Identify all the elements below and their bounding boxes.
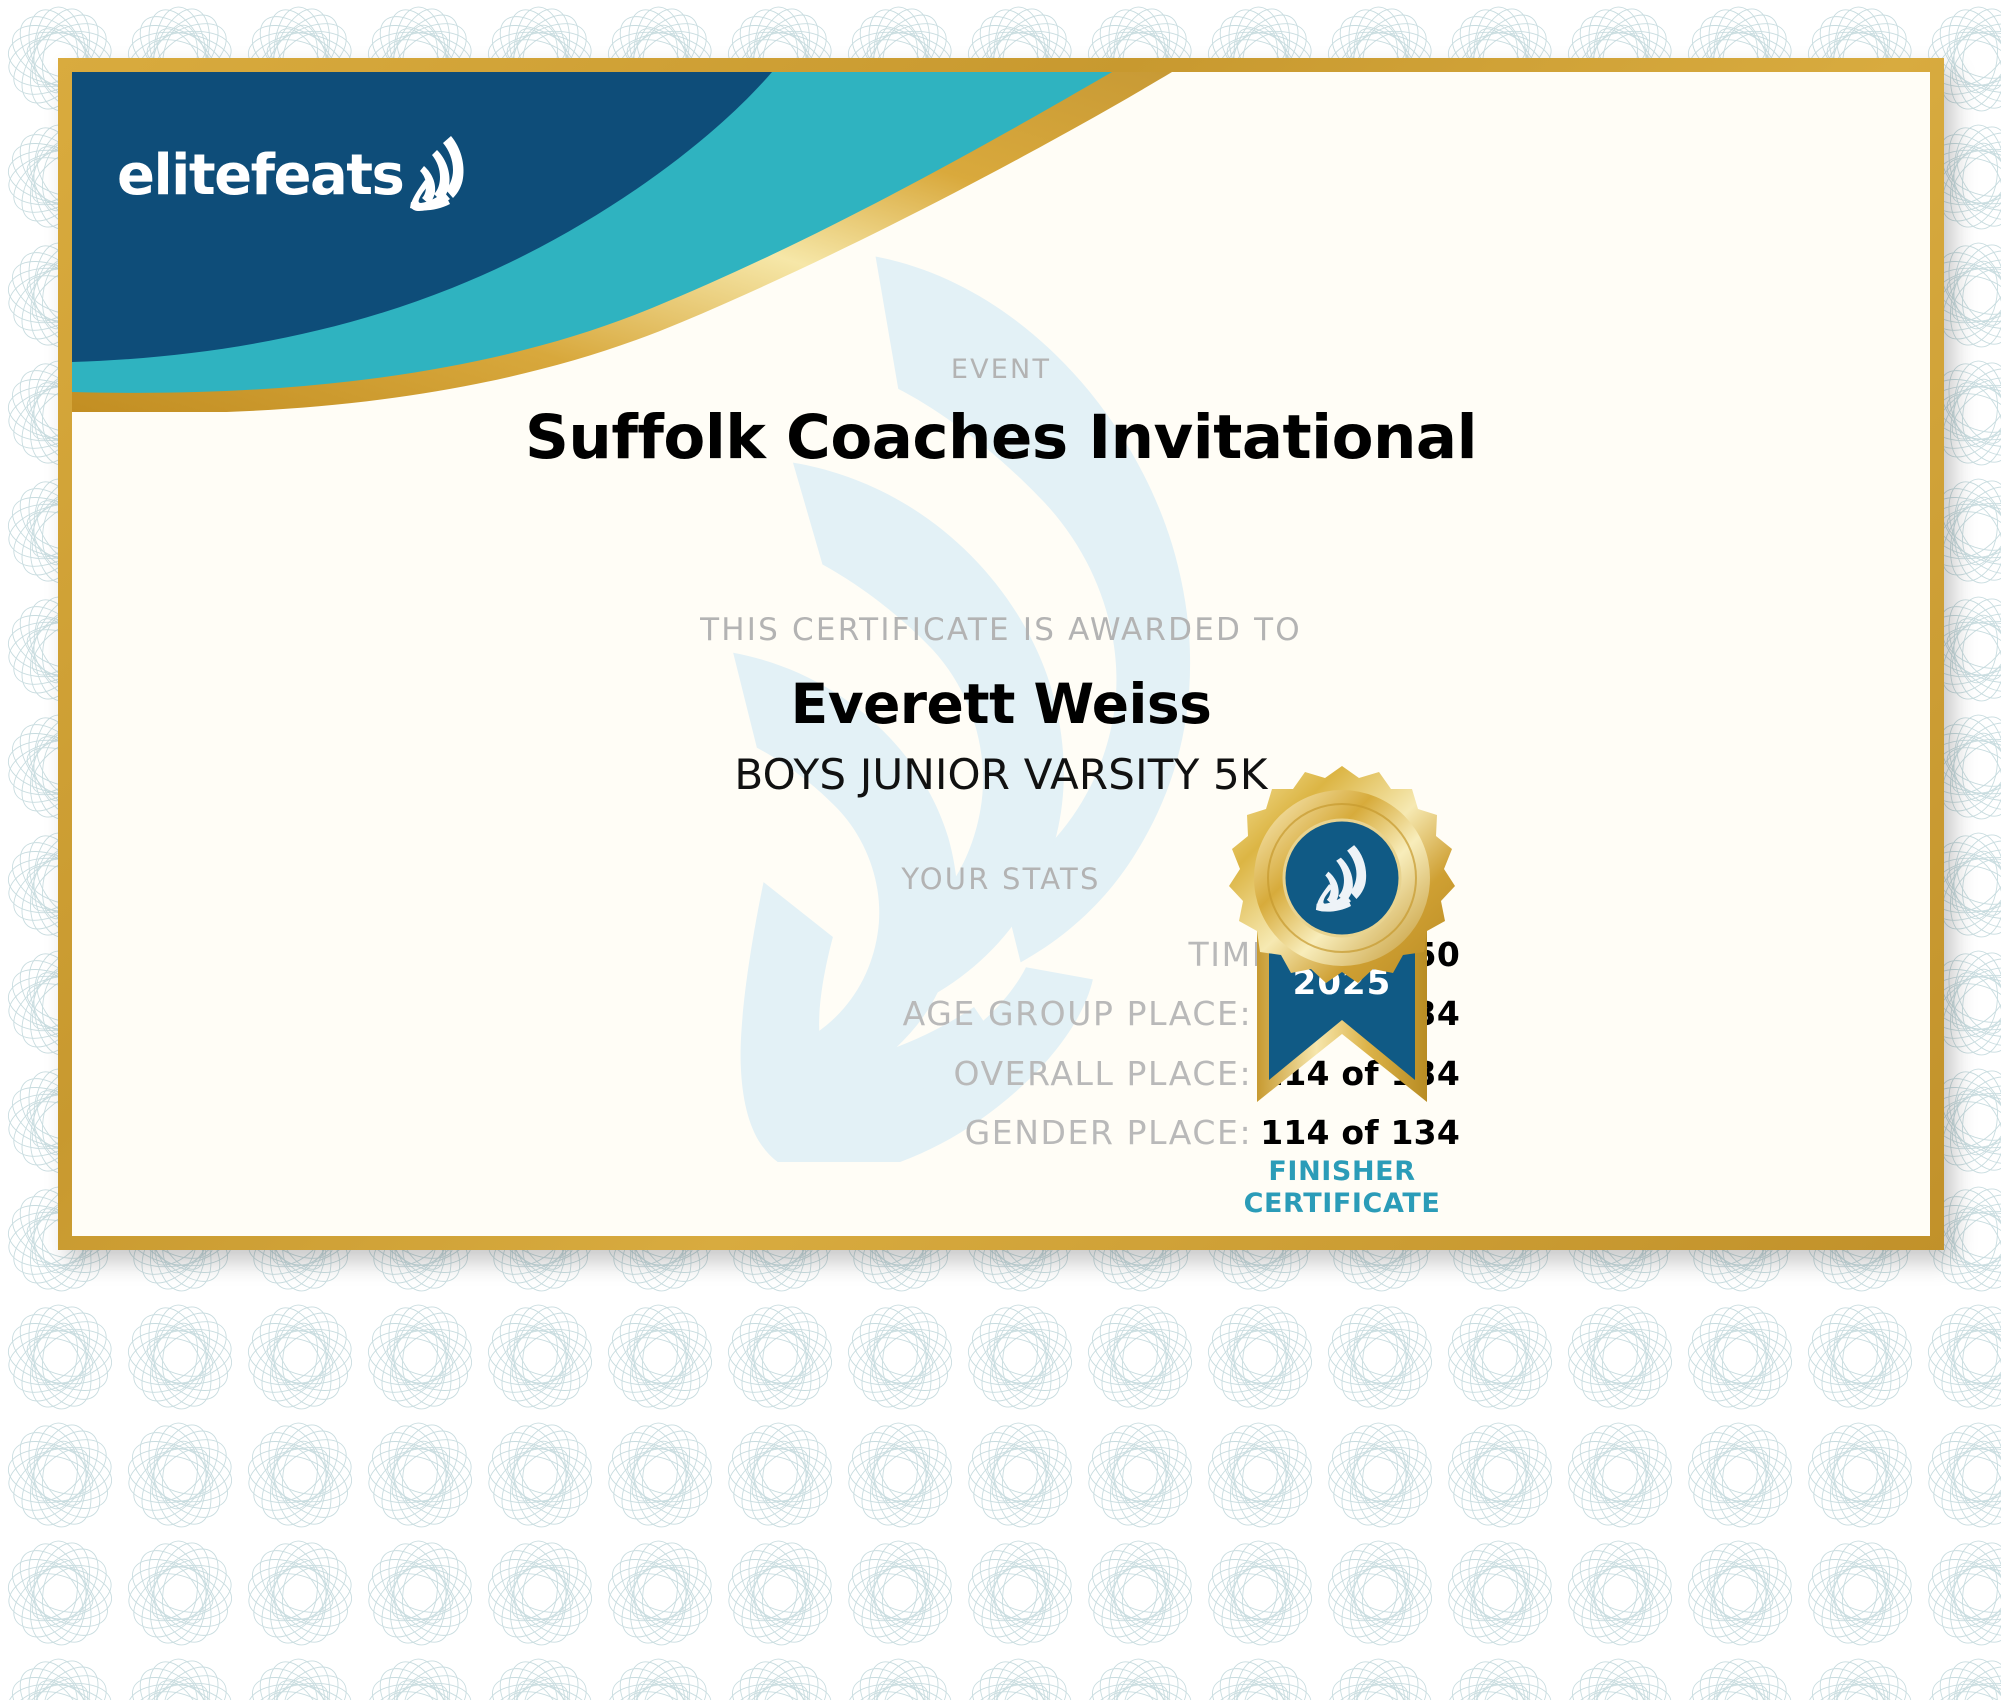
badge-caption-line-1: FINISHER bbox=[1192, 1156, 1492, 1188]
certificate-page: elitefeats EVENT Suffolk Coaches Invitat… bbox=[0, 0, 2001, 1700]
elitefeats-logo: elitefeats bbox=[117, 134, 473, 218]
logo-wordmark: elitefeats bbox=[117, 148, 403, 204]
certificate-card: elitefeats EVENT Suffolk Coaches Invitat… bbox=[72, 72, 1930, 1236]
division-name: BOYS JUNIOR VARSITY 5K bbox=[72, 750, 1930, 799]
gold-medal-rosette-icon: 2025 bbox=[1197, 762, 1487, 1152]
your-stats-label: YOUR STATS bbox=[72, 862, 1930, 896]
winged-foot-icon bbox=[407, 134, 473, 212]
certificate-gold-frame: elitefeats EVENT Suffolk Coaches Invitat… bbox=[58, 58, 1944, 1250]
recipient-name: Everett Weiss bbox=[72, 672, 1930, 736]
event-label: EVENT bbox=[72, 354, 1930, 385]
badge-caption-line-2: CERTIFICATE bbox=[1192, 1188, 1492, 1220]
event-title: Suffolk Coaches Invitational bbox=[72, 402, 1930, 473]
awarded-to-label: THIS CERTIFICATE IS AWARDED TO bbox=[72, 612, 1930, 648]
badge-caption: FINISHER CERTIFICATE bbox=[1192, 1156, 1492, 1220]
finisher-badge: 2025 bbox=[1192, 762, 1492, 1220]
